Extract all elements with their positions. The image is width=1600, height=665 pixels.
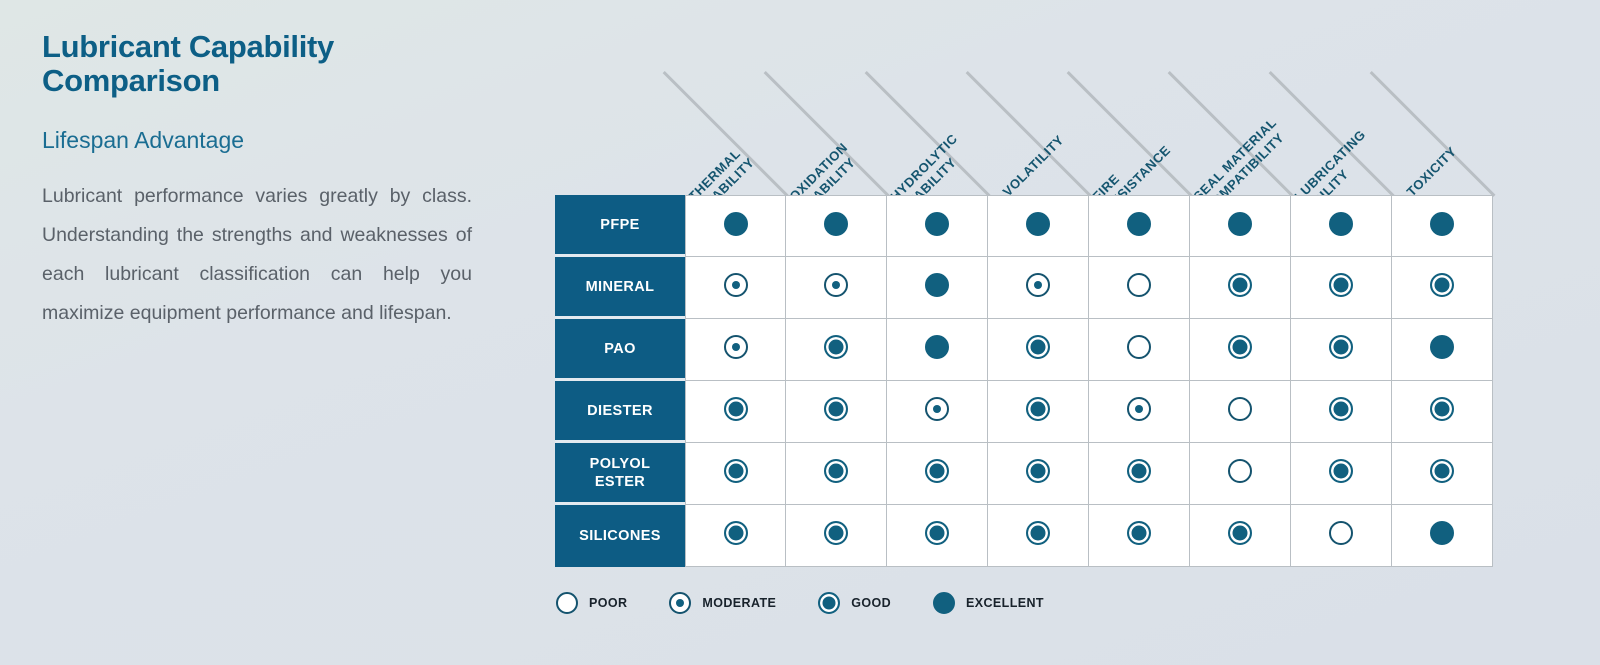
row-label-text: PAO [604,341,636,357]
row-label-text: SILICONES [579,528,661,544]
cell-polyol-ester-lubricating-ability [1291,443,1392,505]
column-header-text: VOLATILITY [1000,132,1068,200]
cell-pfpe-lubricating-ability [1291,195,1392,257]
cell-diester-fire-resistance [1089,381,1190,443]
rating-mark-good [1228,273,1252,297]
rating-mark-poor [1127,273,1151,297]
cell-pfpe-fire-resistance [1089,195,1190,257]
table-row: MINERAL [555,257,1493,319]
table-row: SILICONES [555,505,1493,567]
cell-polyol-ester-toxicity [1392,443,1493,505]
cell-mineral-toxicity [1392,257,1493,319]
rating-mark-excellent [925,335,949,359]
intro-paragraph: Lubricant performance varies greatly by … [42,177,472,333]
cell-mineral-oxidation-stability [786,257,887,319]
rating-mark-good [824,521,848,545]
row-label-diester: DIESTER [555,381,685,443]
rating-mark-good [1329,273,1353,297]
rating-mark-poor [1228,397,1252,421]
cell-silicones-volatility [988,505,1089,567]
row-label-polyol-ester: POLYOLESTER [555,443,685,505]
cell-silicones-fire-resistance [1089,505,1190,567]
cell-pao-oxidation-stability [786,319,887,381]
cell-pfpe-seal-material-compatibility [1190,195,1291,257]
legend-label-moderate: MODERATE [702,596,776,610]
rating-mark-good [925,459,949,483]
cell-polyol-ester-seal-material-compatibility [1190,443,1291,505]
rating-mark-good [1026,397,1050,421]
cell-silicones-hydrolytic-stability [887,505,988,567]
rating-mark-excellent [925,212,949,236]
rating-mark-poor [1127,335,1151,359]
legend-item-poor: POOR [556,592,627,614]
rating-mark-good [1228,521,1252,545]
rating-mark-moderate [1127,397,1151,421]
rating-mark-good [724,521,748,545]
rating-mark-good [1329,459,1353,483]
rating-mark-good [824,335,848,359]
rating-mark-good [925,521,949,545]
rating-mark-moderate [1026,273,1050,297]
cell-mineral-volatility [988,257,1089,319]
column-header-volatility: VOLATILITY [1000,132,1068,200]
cell-silicones-oxidation-stability [786,505,887,567]
legend-mark-poor [556,592,578,614]
legend-item-excellent: EXCELLENT [933,592,1044,614]
row-label-text: PFPE [600,217,639,233]
rating-mark-excellent [1430,521,1454,545]
cell-pao-volatility [988,319,1089,381]
cell-pfpe-hydrolytic-stability [887,195,988,257]
rating-mark-excellent [1228,212,1252,236]
cell-silicones-toxicity [1392,505,1493,567]
cell-pfpe-volatility [988,195,1089,257]
intro-pane: Lubricant Capability Comparison Lifespan… [42,30,492,333]
cell-diester-oxidation-stability [786,381,887,443]
rating-mark-good [1228,335,1252,359]
page-title: Lubricant Capability Comparison [42,30,492,98]
rating-mark-good [1026,521,1050,545]
table-row: POLYOLESTER [555,443,1493,505]
legend-mark-moderate [669,592,691,614]
rating-mark-good [1430,459,1454,483]
cell-diester-lubricating-ability [1291,381,1392,443]
cell-diester-toxicity [1392,381,1493,443]
cell-silicones-seal-material-compatibility [1190,505,1291,567]
rating-mark-moderate [824,273,848,297]
column-header-toxicity: TOXICITY [1404,144,1460,200]
comparison-table-wrapper: PFPEMINERALPAODIESTERPOLYOLESTERSILICONE… [555,195,1493,567]
rating-mark-moderate [724,335,748,359]
cell-pao-lubricating-ability [1291,319,1392,381]
legend-label-poor: POOR [589,596,627,610]
rating-mark-moderate [724,273,748,297]
cell-silicones-lubricating-ability [1291,505,1392,567]
rating-mark-good [1127,521,1151,545]
rating-mark-excellent [1430,335,1454,359]
rating-mark-good [1026,459,1050,483]
row-label-text: MINERAL [586,279,655,295]
rating-mark-moderate [925,397,949,421]
cell-polyol-ester-thermal-stability [685,443,786,505]
rating-mark-excellent [925,273,949,297]
rating-mark-good [1127,459,1151,483]
row-label-mineral: MINERAL [555,257,685,319]
column-header-text: TOXICITY [1404,144,1460,200]
cell-mineral-seal-material-compatibility [1190,257,1291,319]
cell-pao-hydrolytic-stability [887,319,988,381]
cell-mineral-thermal-stability [685,257,786,319]
cell-mineral-lubricating-ability [1291,257,1392,319]
rating-mark-good [1430,397,1454,421]
cell-pfpe-thermal-stability [685,195,786,257]
rating-mark-poor [1329,521,1353,545]
rating-mark-good [1329,397,1353,421]
rating-mark-good [724,459,748,483]
cell-polyol-ester-hydrolytic-stability [887,443,988,505]
rating-mark-good [824,397,848,421]
table-row: DIESTER [555,381,1493,443]
cell-diester-hydrolytic-stability [887,381,988,443]
legend-label-good: GOOD [851,596,891,610]
cell-pao-fire-resistance [1089,319,1190,381]
legend-mark-excellent [933,592,955,614]
cell-diester-seal-material-compatibility [1190,381,1291,443]
legend-item-good: GOOD [818,592,891,614]
legend-item-moderate: MODERATE [669,592,776,614]
cell-pfpe-toxicity [1392,195,1493,257]
rating-mark-good [1329,335,1353,359]
cell-diester-volatility [988,381,1089,443]
cell-polyol-ester-fire-resistance [1089,443,1190,505]
cell-polyol-ester-volatility [988,443,1089,505]
row-label-pfpe: PFPE [555,195,685,257]
rating-mark-good [1430,273,1454,297]
rating-mark-poor [1228,459,1252,483]
cell-diester-thermal-stability [685,381,786,443]
row-label-text: DIESTER [587,403,653,419]
rating-mark-excellent [724,212,748,236]
row-label-text: ESTER [595,474,645,490]
cell-polyol-ester-oxidation-stability [786,443,887,505]
infographic-page: Lubricant Capability Comparison Lifespan… [0,0,1600,665]
cell-silicones-thermal-stability [685,505,786,567]
row-label-pao: PAO [555,319,685,381]
column-headers: THERMALSTABILITYOXIDATIONSTABILITYHYDROL… [555,60,1535,196]
cell-pao-seal-material-compatibility [1190,319,1291,381]
legend-label-excellent: EXCELLENT [966,596,1044,610]
legend: POORMODERATEGOODEXCELLENT [556,592,1086,614]
rating-mark-good [1026,335,1050,359]
legend-mark-good [818,592,840,614]
table-row: PAO [555,319,1493,381]
comparison-table: PFPEMINERALPAODIESTERPOLYOLESTERSILICONE… [555,195,1493,567]
rating-mark-excellent [1026,212,1050,236]
row-label-silicones: SILICONES [555,505,685,567]
rating-mark-excellent [1430,212,1454,236]
rating-mark-excellent [1127,212,1151,236]
rating-mark-good [724,397,748,421]
rating-mark-good [824,459,848,483]
cell-pfpe-oxidation-stability [786,195,887,257]
cell-pao-toxicity [1392,319,1493,381]
section-subtitle: Lifespan Advantage [42,128,492,153]
table-body: PFPEMINERALPAODIESTERPOLYOLESTERSILICONE… [555,195,1493,567]
row-label-text: POLYOL [590,456,651,472]
table-row: PFPE [555,195,1493,257]
cell-pao-thermal-stability [685,319,786,381]
rating-mark-excellent [824,212,848,236]
rating-mark-excellent [1329,212,1353,236]
cell-mineral-hydrolytic-stability [887,257,988,319]
cell-mineral-fire-resistance [1089,257,1190,319]
